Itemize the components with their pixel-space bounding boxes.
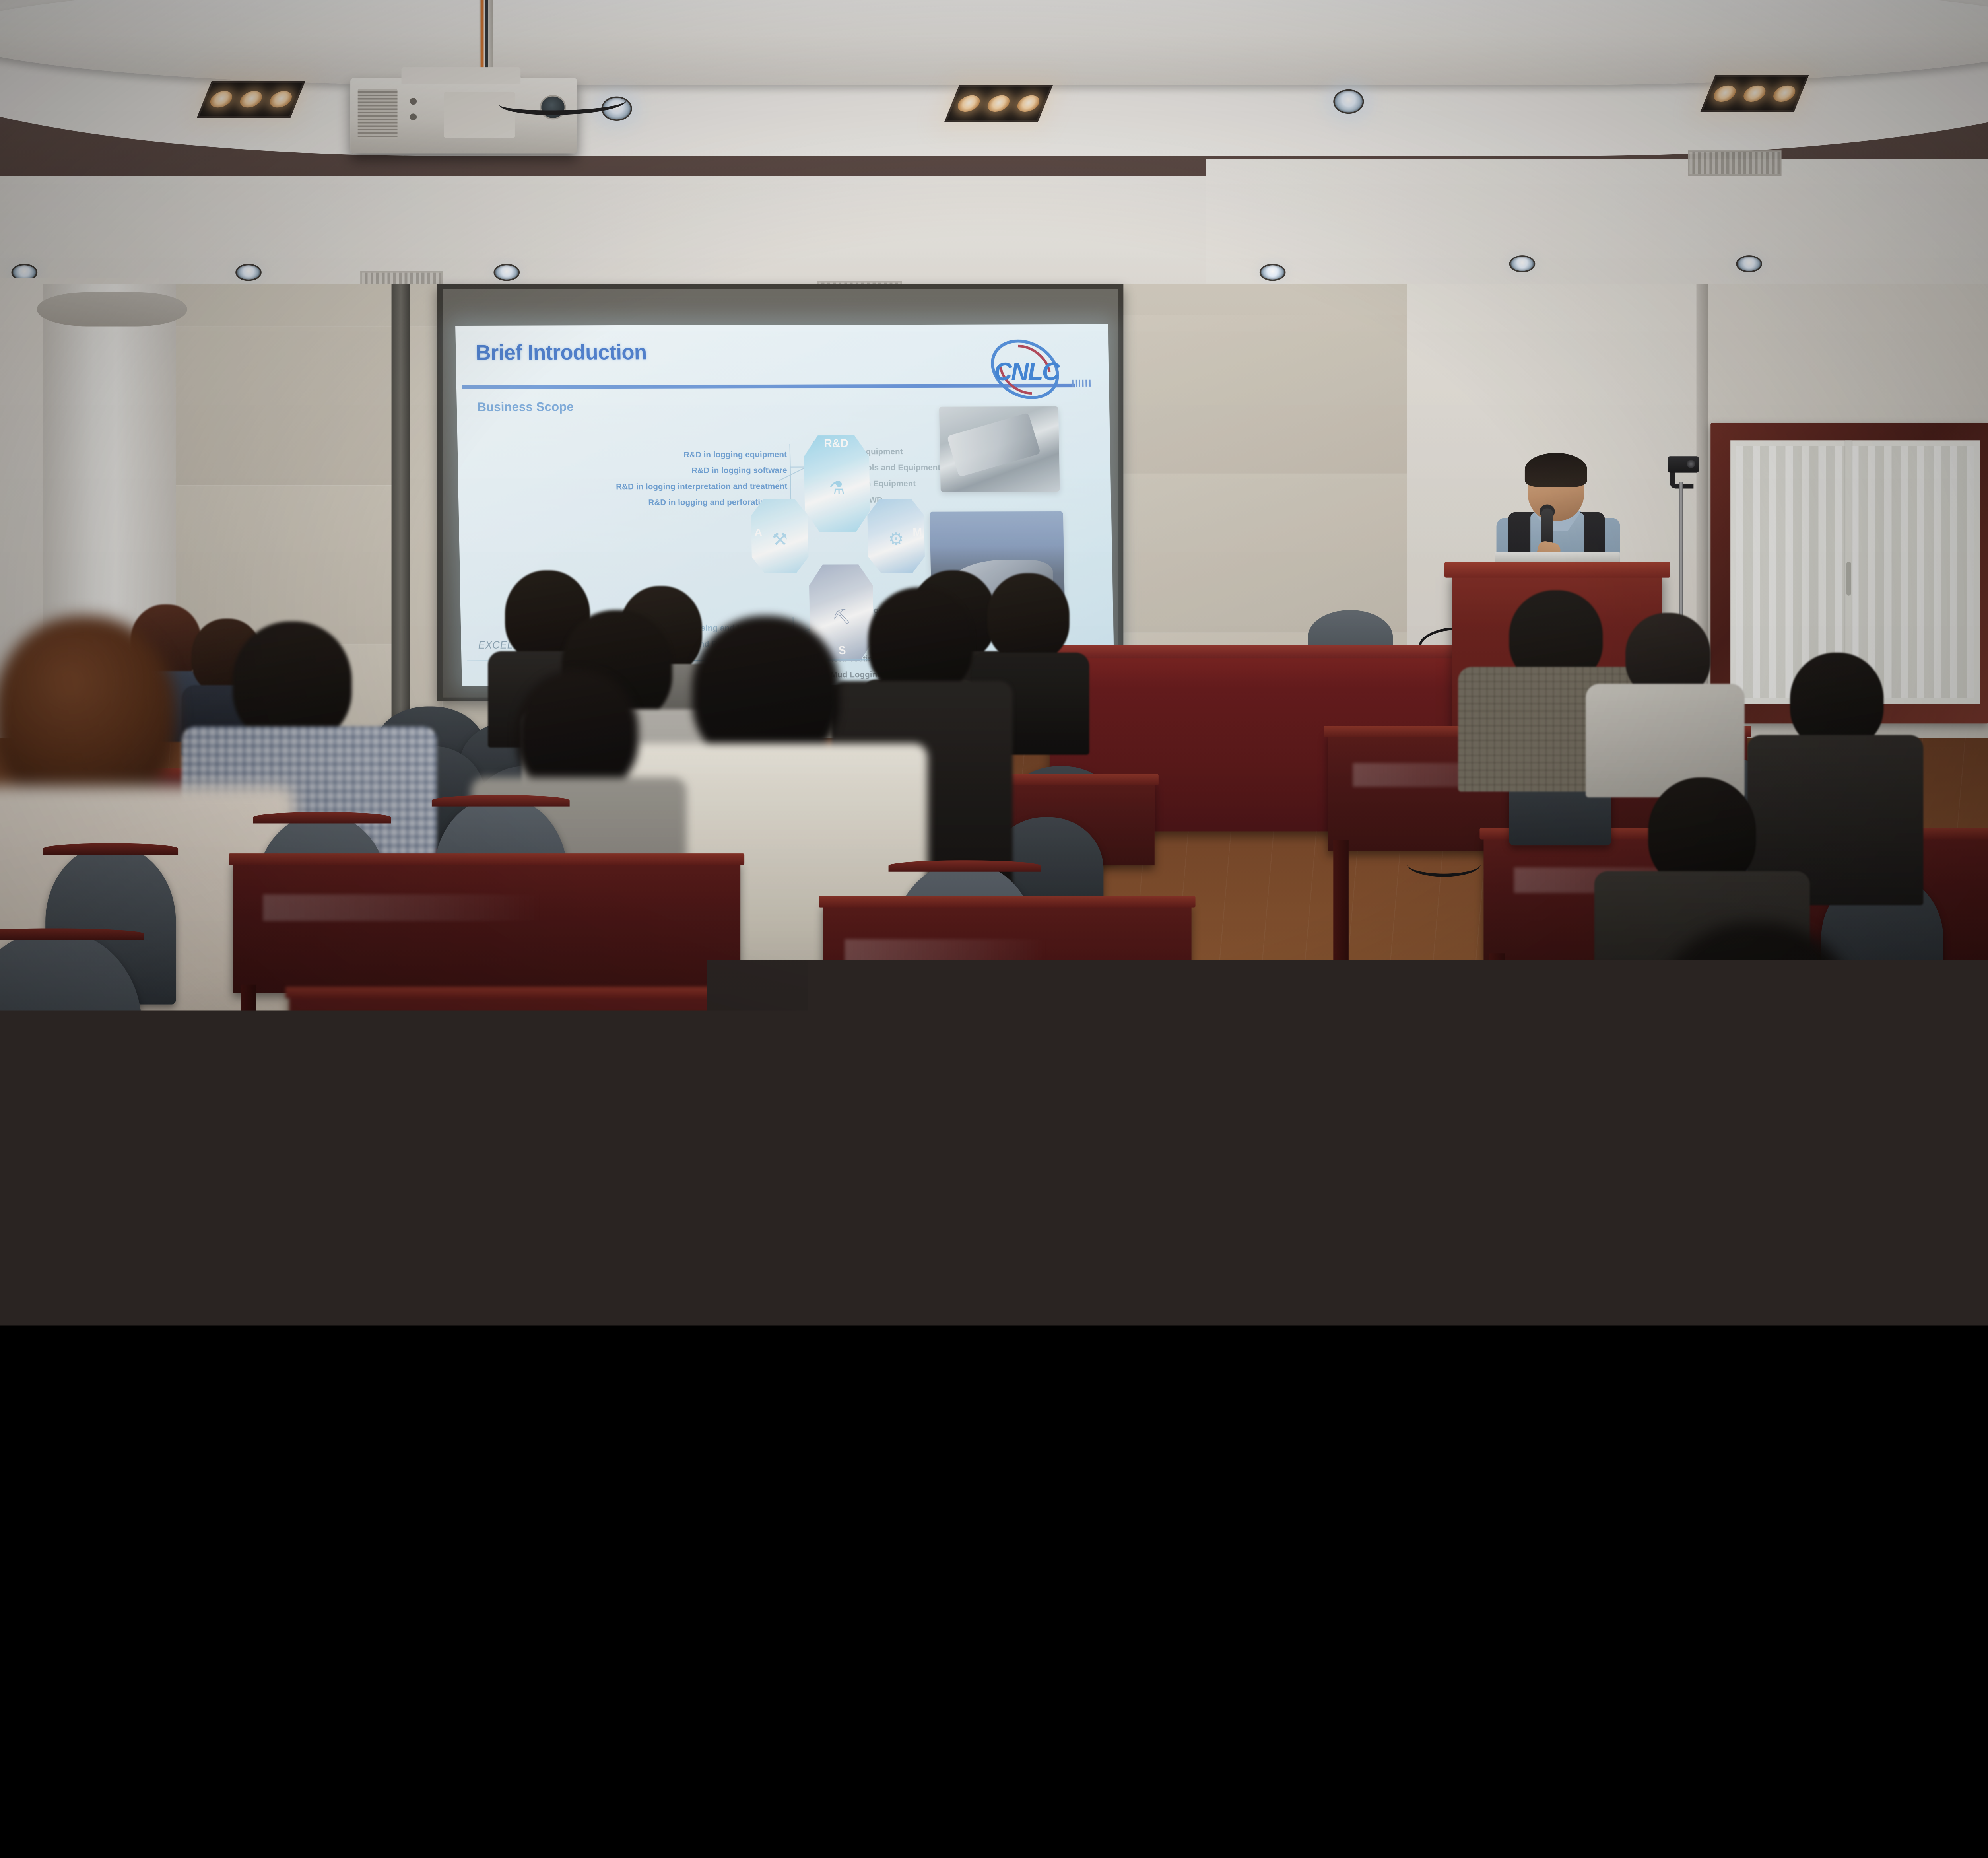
projector-upper-body — [402, 67, 521, 84]
ceiling-downlight-8 — [1736, 255, 1762, 272]
hex-block-rd: R&D ⚗ — [804, 435, 871, 532]
desk-sheen — [845, 939, 1048, 968]
conference-room-scene: Brief Introduction Business Scope CNLC R… — [0, 0, 1988, 1325]
ceiling-lamp-triple-right — [1700, 75, 1809, 112]
podium-top-edge — [1444, 562, 1670, 578]
desk-leg — [1333, 840, 1349, 970]
hex-block-analysis: A ⚒ — [751, 499, 809, 573]
camera-lens-icon — [1687, 460, 1695, 468]
desk-top — [229, 853, 744, 865]
slide-photo-equipment — [939, 406, 1060, 492]
hex-block-manufacture: M ⚙ — [867, 499, 925, 573]
wall-tile — [1123, 315, 1410, 474]
floor-cable — [1407, 851, 1481, 877]
wall-tile — [176, 326, 397, 485]
ceiling-lamp-triple-left — [197, 81, 305, 118]
window-handle[interactable] — [1846, 562, 1851, 596]
desk-foreground-second[interactable] — [289, 993, 1112, 1115]
ceiling-right-plane — [1206, 159, 1988, 301]
attendee-torso — [1577, 1070, 1988, 1326]
ceiling-downlight-7 — [1509, 255, 1536, 272]
attendee-foreground-right — [1577, 922, 1988, 1326]
slide-title: Brief Introduction — [476, 340, 647, 365]
attendee-head — [0, 616, 176, 809]
slide-title-rule-ticks — [1072, 380, 1092, 387]
ceiling-downlight-5 — [493, 264, 520, 281]
chair-rim — [0, 928, 144, 940]
chair-rim — [253, 812, 391, 824]
slide-subtitle: Business Scope — [477, 400, 574, 414]
hex-label-analysis: A — [754, 527, 763, 539]
desk-foreground[interactable] — [0, 1104, 1350, 1325]
flask-icon: ⚗ — [829, 477, 845, 498]
slide-title-rule — [462, 384, 1075, 389]
ceiling-air-vent-right — [1688, 150, 1781, 176]
projector-knob-2 — [410, 113, 417, 120]
ceiling-downlight-6 — [1260, 264, 1286, 281]
hex-label-manufacture: M — [912, 526, 922, 539]
attendee-right-hoodie — [1586, 613, 1745, 795]
cnlc-logo-wordmark: CNLC — [984, 357, 1069, 386]
ceiling-lamp-triple-center — [944, 85, 1053, 122]
chair-rim — [432, 795, 570, 807]
hex-label-rd: R&D — [824, 437, 848, 450]
desk-top — [285, 987, 1116, 998]
chair-rim — [43, 843, 178, 855]
wall-column-cap — [37, 292, 187, 327]
cnlc-logo: CNLC — [983, 341, 1070, 398]
attendee-head — [516, 670, 639, 795]
ceiling-cove-band — [0, 0, 1988, 85]
ceiling-downlight-4 — [235, 264, 262, 281]
wall-tile — [1123, 474, 1410, 633]
desk-top — [819, 896, 1195, 908]
ceiling-downlight-2 — [1333, 89, 1364, 114]
desk-sheen — [92, 1167, 666, 1254]
desk-sheen — [339, 1025, 791, 1049]
tools-icon: ⚒ — [772, 529, 788, 550]
chair-rim — [889, 860, 1041, 872]
projector-front-face — [334, 123, 594, 196]
presenter-hair — [1525, 453, 1587, 487]
gear-icon: ⚙ — [888, 529, 905, 549]
desk-row-mid[interactable] — [233, 860, 740, 993]
desk-sheen — [263, 894, 542, 921]
projector-knob-1 — [410, 98, 417, 105]
desk-leg — [1507, 1123, 1526, 1325]
